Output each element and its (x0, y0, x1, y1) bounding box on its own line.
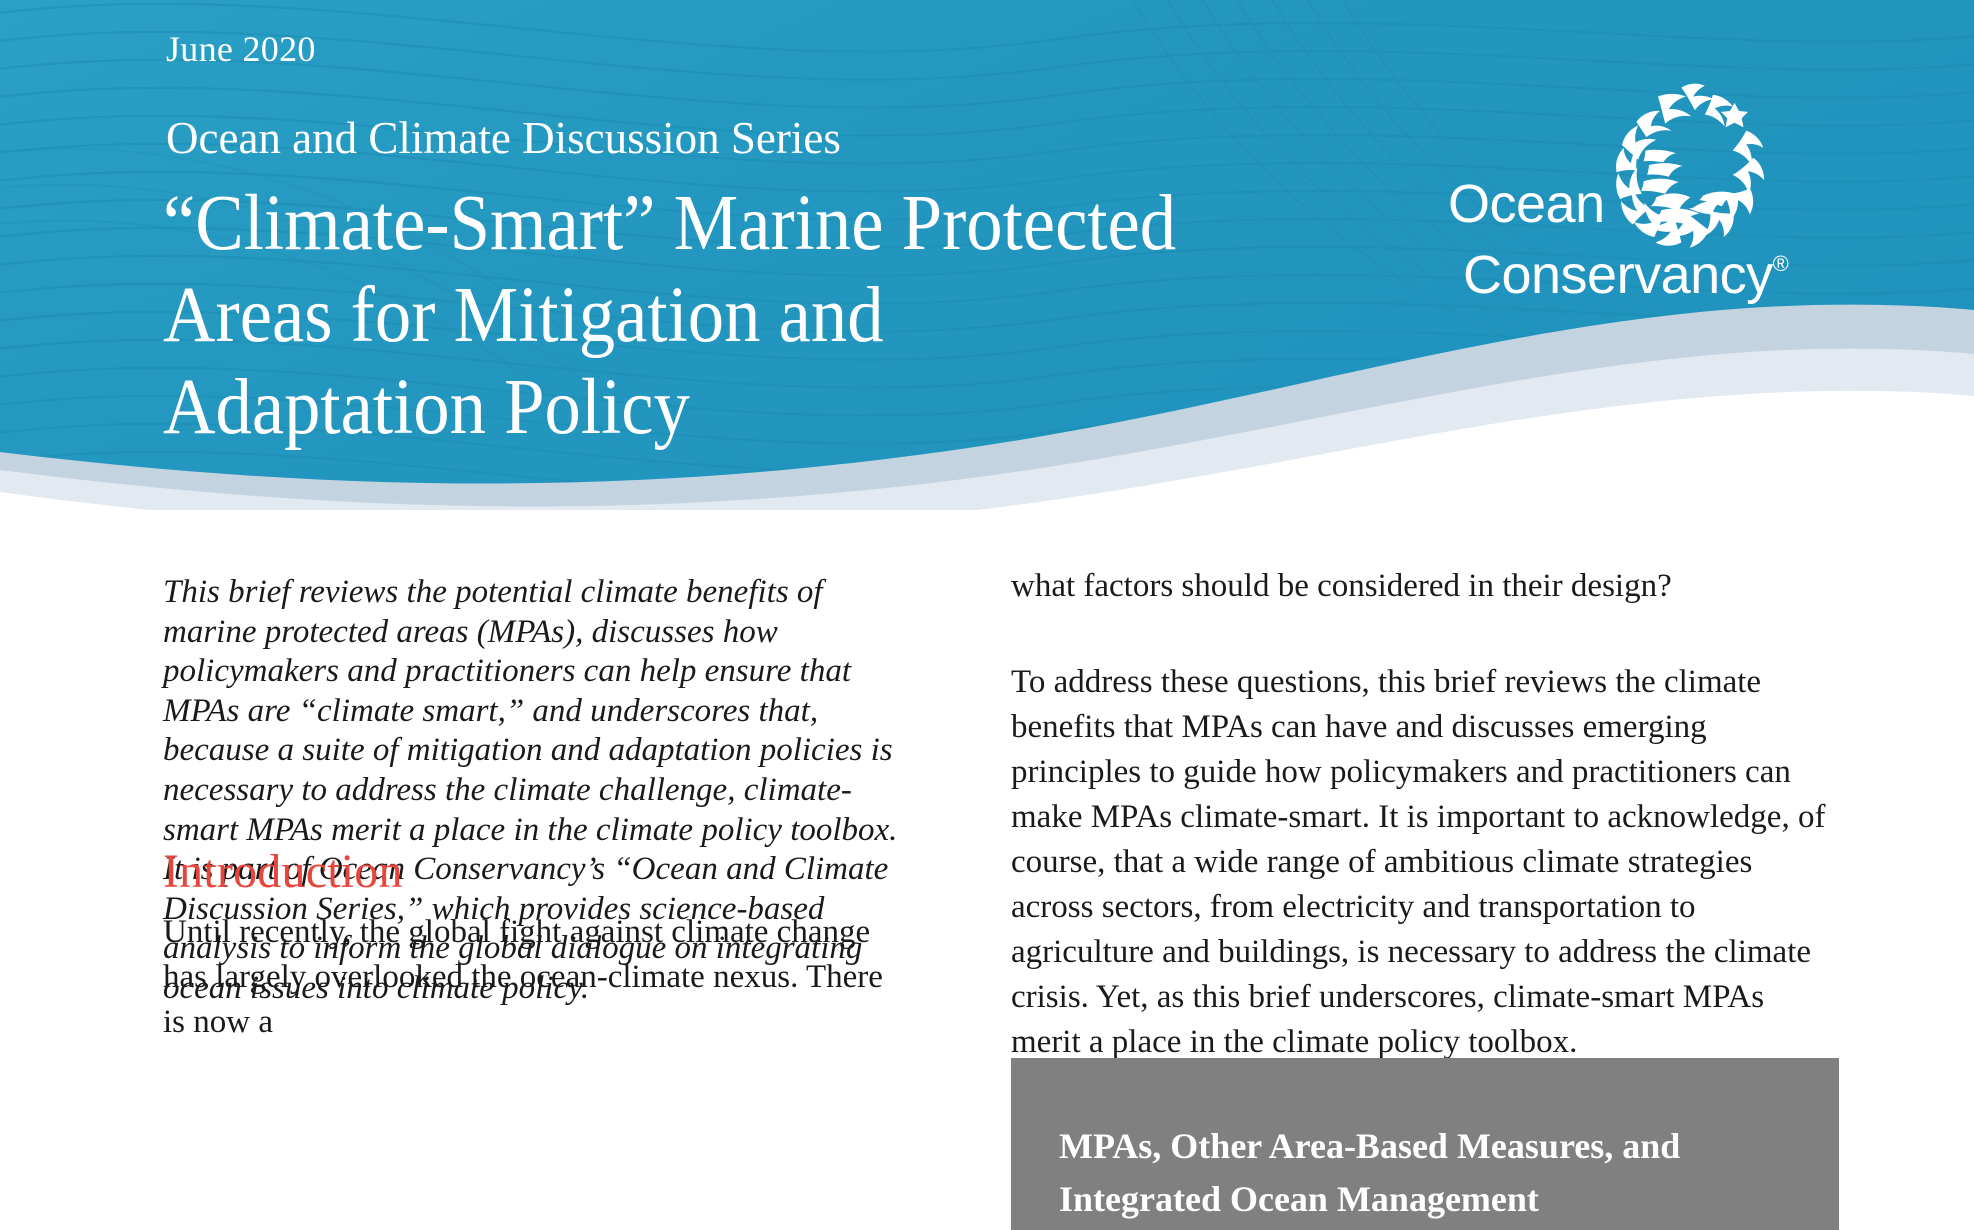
ocean-conservancy-wordmark: Ocean Conservancy® (1445, 75, 1815, 295)
right-paragraph-1: what factors should be considered in the… (1011, 564, 1841, 609)
series-label: Ocean and Climate Discussion Series (166, 112, 841, 164)
right-paragraph-2: To address these questions, this brief r… (1011, 660, 1841, 1065)
sidebar-callout-box: MPAs, Other Area-Based Measures, and Int… (1011, 1058, 1839, 1230)
registered-trademark-icon: ® (1773, 251, 1789, 276)
introduction-body-paragraph: Until recently, the global fight against… (163, 910, 908, 1045)
logo-word-conservancy-text: Conservancy (1463, 245, 1773, 305)
page-title-line-3: Adaptation Policy (163, 362, 1258, 454)
header-banner: June 2020 Ocean and Climate Discussion S… (0, 0, 1974, 510)
logo-word-conservancy: Conservancy® (1463, 233, 1788, 306)
sidebar-callout-heading: MPAs, Other Area-Based Measures, and Int… (1059, 1120, 1799, 1226)
page-title-line-1: “Climate-Smart” Marine Protected (163, 178, 1258, 270)
section-heading-introduction: Introduction (163, 844, 403, 899)
ocean-conservancy-logo: Ocean Conservancy® (1445, 75, 1815, 295)
page-title: “Climate-Smart” Marine Protected Areas f… (163, 178, 1258, 454)
publication-date: June 2020 (166, 28, 316, 70)
page-title-line-2: Areas for Mitigation and (163, 270, 1258, 362)
page-content: This brief reviews the potential climate… (0, 510, 1974, 1228)
logo-word-ocean: Ocean (1448, 173, 1605, 235)
